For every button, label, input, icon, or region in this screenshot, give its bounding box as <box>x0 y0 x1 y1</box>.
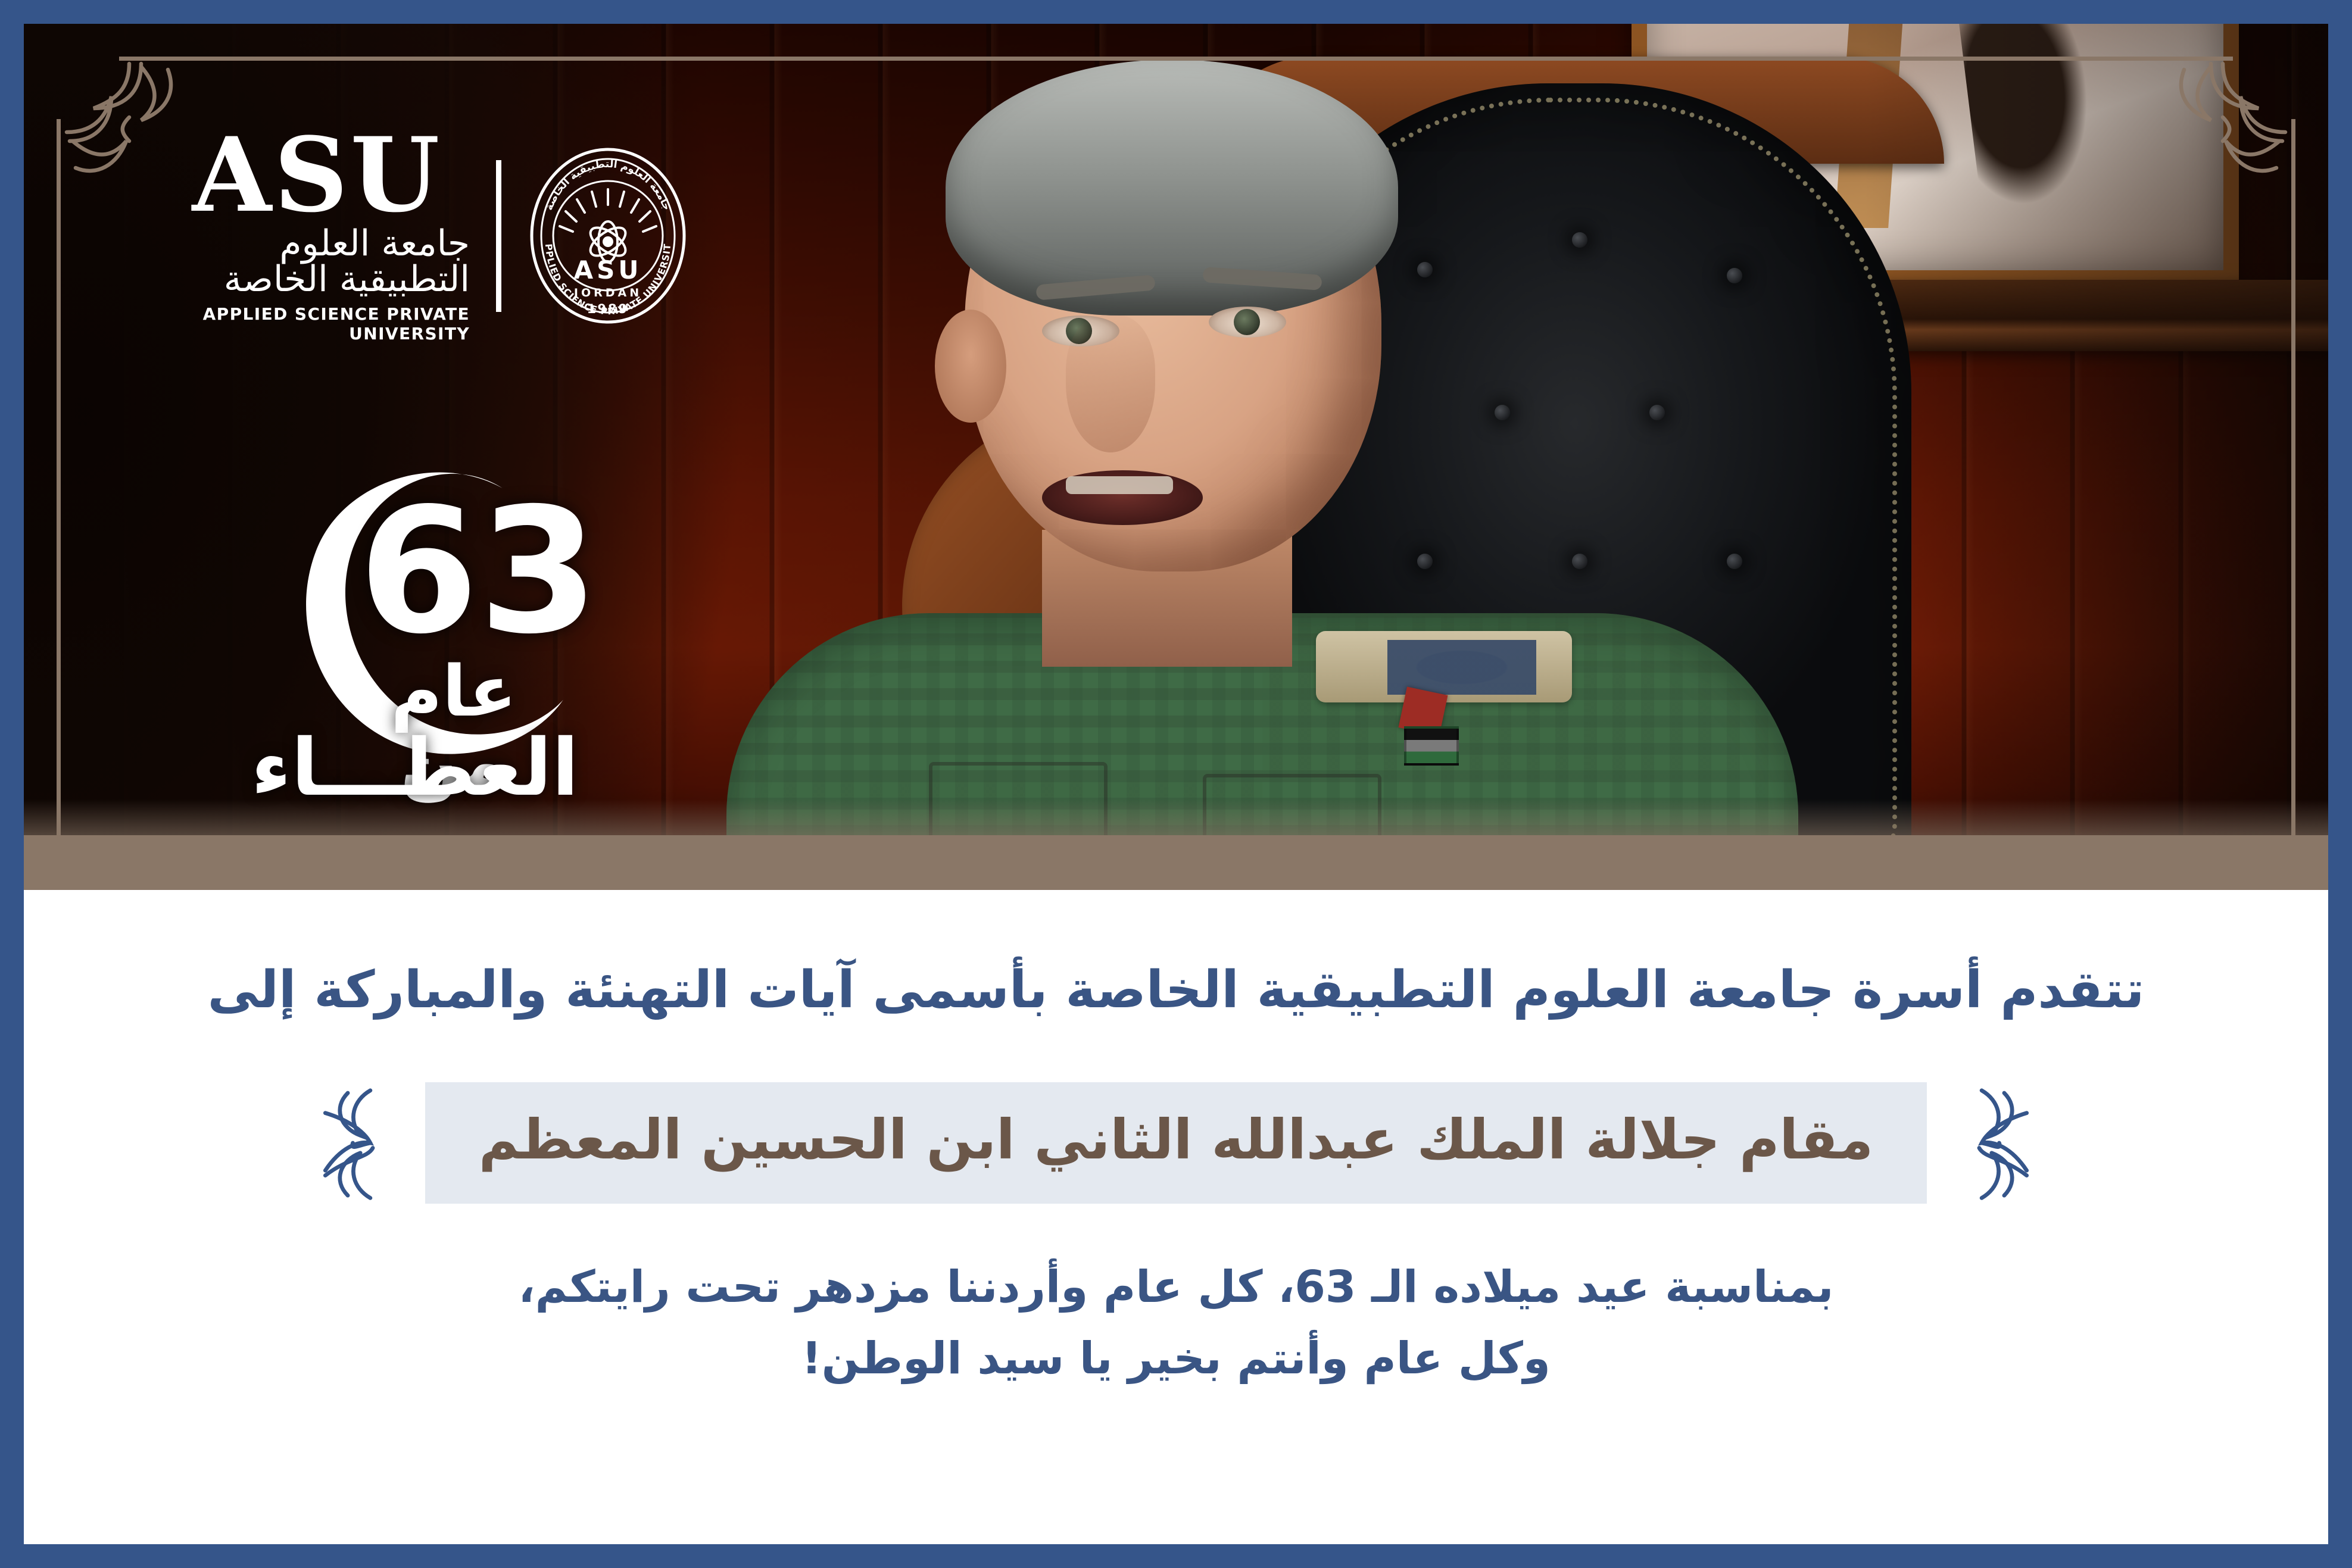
rank-insignia <box>1387 640 1536 695</box>
portrait-subject <box>786 60 1715 890</box>
greeting-intro-line: تتقدم أسرة جامعة العلوم التطبيقية الخاصة… <box>24 958 2328 1023</box>
ornament-right-icon <box>1948 1080 2038 1205</box>
greeting-body-line-1: بمناسبة عيد ميلاده الـ 63، كل عام وأردنن… <box>24 1253 2328 1322</box>
logo-wordmark-group: ASU جامعة العلوم التطبيقية الخاصة APPLIE… <box>164 128 470 343</box>
greeting-body-line-2: وكل عام وأنتم بخير يا سيد الوطن! <box>24 1325 2328 1393</box>
asu-english-name: APPLIED SCIENCE PRIVATE UNIVERSITY <box>164 304 470 343</box>
tuft-button <box>1727 554 1742 569</box>
asu-wordmark: ASU <box>192 128 442 222</box>
flag-patch <box>1404 726 1459 766</box>
anniversary-badge: 63 عام من العطـــاء <box>257 419 638 836</box>
badge-line-2: العطـــاء <box>269 729 579 807</box>
pupil <box>1234 309 1260 335</box>
asu-seal-icon: ASU JORDAN 1989 جامعة العلوم التطبيقية ا… <box>528 146 688 325</box>
svg-text:JORDAN: JORDAN <box>573 286 642 299</box>
teeth <box>1066 476 1173 494</box>
hair <box>946 60 1398 316</box>
logo-divider <box>496 160 501 312</box>
inner-rule-top <box>119 57 2233 61</box>
svg-text:ASU: ASU <box>574 255 642 285</box>
corner-flourish-top-right-icon <box>2154 49 2303 198</box>
message-area: تتقدم أسرة جامعة العلوم التطبيقية الخاصة… <box>24 890 2328 1544</box>
asu-arabic-name: جامعة العلوم التطبيقية الخاصة <box>164 226 470 297</box>
tan-divider-band <box>24 835 2328 890</box>
tuft-button <box>1727 268 1742 283</box>
badge-number: 63 <box>358 486 599 658</box>
greeting-poster: ASU JORDAN 1989 جامعة العلوم التطبيقية ا… <box>0 0 2352 1568</box>
honoree-row: مقام جلالة الملك عبدالله الثاني ابن الحس… <box>24 1080 2328 1205</box>
poster-card: ASU JORDAN 1989 جامعة العلوم التطبيقية ا… <box>24 24 2328 1544</box>
honoree-highlight-box: مقام جلالة الملك عبدالله الثاني ابن الحس… <box>425 1082 1927 1204</box>
asu-logo: ASU JORDAN 1989 جامعة العلوم التطبيقية ا… <box>164 140 688 331</box>
ornament-left-icon <box>314 1080 404 1205</box>
nose <box>1066 316 1155 452</box>
ear <box>935 310 1006 423</box>
